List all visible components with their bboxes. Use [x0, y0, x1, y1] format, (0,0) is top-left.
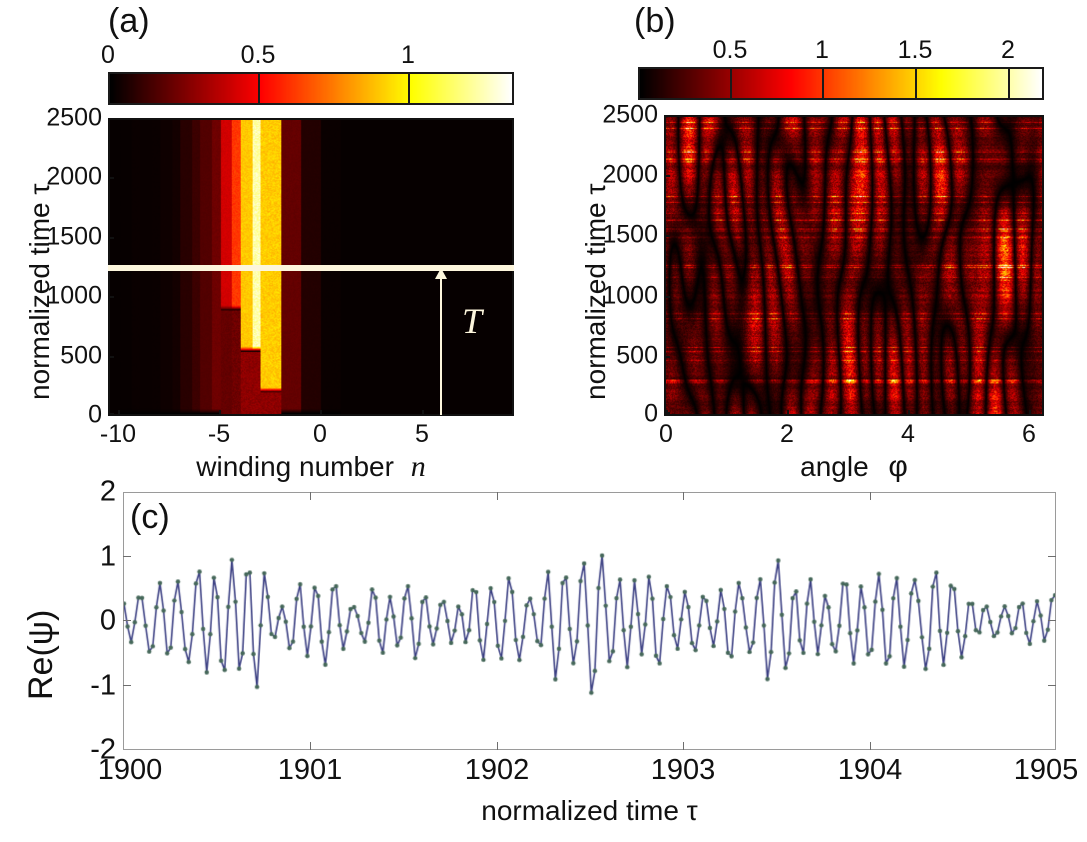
- panel-c-xtickmark-1901: [310, 742, 311, 750]
- panel-a-ytick-0: 0: [28, 401, 102, 430]
- panel-b-colorbar-notch-3: [1008, 67, 1010, 100]
- panel-a-colorbar: [108, 72, 514, 105]
- panel-a-colorbar-tick-0: 0: [101, 41, 115, 70]
- panel-a-period-label: T: [462, 300, 482, 342]
- panel-a-ylabel: normalized time τ: [24, 184, 56, 400]
- panel-c-xtick-1904: 1904: [838, 754, 903, 787]
- panel-c-label: (c): [130, 498, 170, 537]
- panel-c-ylabel: Re(ψ): [22, 610, 61, 700]
- panel-a-ytickmark-1000: [108, 296, 114, 298]
- panel-b-xtickmark-0: [666, 410, 668, 416]
- panel-b-xtickmark-6: [1029, 410, 1031, 416]
- panel-c-ytickmark-1: [123, 556, 131, 557]
- panel-b-xlabel-text: angle: [800, 451, 869, 482]
- panel-a-colorbar-notch-1: [258, 72, 260, 105]
- panel-c-xtickmark-1901-t: [310, 492, 311, 500]
- panel-b-colorbar-tick-2: 1.5: [898, 36, 933, 65]
- panel-a-xlabel: winding number n: [108, 450, 514, 484]
- panel-c-xtickmark-1902: [497, 742, 498, 750]
- panel-c-ytickmark-1-r: [1048, 556, 1056, 557]
- panel-c-ytickmark-0-r: [1048, 620, 1056, 621]
- panel-c-xlabel: normalized time τ: [123, 795, 1056, 827]
- panel-b-label: (b): [634, 2, 676, 41]
- panel-a-colorbar-notch-2: [408, 72, 410, 105]
- panel-b-ytick-0: 0: [584, 400, 658, 429]
- panel-a-xtickmark-5: [422, 410, 424, 416]
- panel-a-xtick-5: 5: [415, 420, 429, 449]
- panel-b-colorbar-tick-0: 0.5: [713, 36, 748, 65]
- panel-b-ytickmark-1000: [664, 296, 670, 298]
- panel-c-ytick--1: -1: [60, 670, 116, 703]
- panel-c-xtick-1901: 1901: [278, 754, 343, 787]
- panel-a-xtick--5: -5: [208, 420, 230, 449]
- panel-c-ytickmark-0: [123, 620, 131, 621]
- panel-c-ytick-2: 2: [60, 476, 116, 509]
- panel-a-ytickmark-2500: [108, 118, 114, 120]
- panel-b-colorbar-tick-1: 1: [815, 36, 829, 65]
- panel-a-xlabel-text: winding number: [196, 451, 394, 482]
- panel-b-ytick-2500: 2500: [584, 101, 658, 130]
- panel-a-xtickmark--5: [219, 410, 221, 416]
- panel-b-colorbar-notch-1: [822, 67, 824, 100]
- panel-c-ytickmark--1: [123, 685, 131, 686]
- panel-c-ytick-1: 1: [60, 541, 116, 574]
- panel-c-xtick-1905: 1905: [1014, 754, 1079, 787]
- panel-b-heatmap: [664, 115, 1044, 416]
- panel-a-xtickmark--10: [118, 410, 120, 416]
- panel-a-ytickmark-0: [108, 413, 114, 415]
- panel-a-ytickmark-1500: [108, 237, 114, 239]
- panel-b-xtickmark-4: [908, 410, 910, 416]
- panel-c-ytickmark--1-r: [1048, 685, 1056, 686]
- panel-a-period-line: [108, 265, 514, 271]
- panel-c-ytick-0: 0: [60, 605, 116, 638]
- figure-canvas: (a) 0 0.5 1 T 2500 2000 1500 1000 500 0 …: [0, 0, 1087, 842]
- panel-b-colorbar: [638, 67, 1044, 100]
- panel-c-xtickmark-1902-t: [497, 492, 498, 500]
- panel-a-label: (a): [108, 2, 150, 41]
- panel-b-ytickmark-2500: [664, 115, 670, 117]
- panel-a-xlabel-var: n: [402, 450, 426, 483]
- panel-c-plot: [123, 492, 1056, 750]
- panel-b-colorbar-tick-3: 2: [1001, 36, 1015, 65]
- panel-b-xtickmark-2: [787, 410, 789, 416]
- panel-b-xtick-0: 0: [659, 420, 673, 449]
- panel-b-ytickmark-1500: [664, 235, 670, 237]
- panel-c-xtickmark-1903-t: [683, 492, 684, 500]
- panel-b-ylabel: normalized time τ: [580, 184, 612, 400]
- panel-b-xlabel: angle φ: [664, 450, 1044, 484]
- panel-b-xtick-2: 2: [780, 420, 794, 449]
- panel-a-colorbar-tick-1: 0.5: [241, 41, 276, 70]
- panel-b-xlabel-var: φ: [876, 450, 907, 483]
- panel-c-xtickmark-1904-t: [870, 492, 871, 500]
- panel-b-xtick-6: 6: [1022, 420, 1036, 449]
- panel-a-ytickmark-2000: [108, 177, 114, 179]
- panel-a-ytick-2500: 2500: [28, 104, 102, 133]
- panel-b-colorbar-notch-2: [915, 67, 917, 100]
- panel-c-xtick-1900: 1900: [98, 754, 163, 787]
- panel-b-xtick-4: 4: [901, 420, 915, 449]
- panel-c-xtick-1903: 1903: [651, 754, 716, 787]
- panel-b-ytickmark-500: [664, 356, 670, 358]
- panel-c-xtickmark-1903: [683, 742, 684, 750]
- panel-a-xtickmark-0: [320, 410, 322, 416]
- panel-a-xtick-0: 0: [313, 420, 327, 449]
- panel-a-ytickmark-500: [108, 356, 114, 358]
- panel-c-xtick-1902: 1902: [465, 754, 530, 787]
- panel-b-ytickmark-2000: [664, 175, 670, 177]
- panel-a-xtick--10: -10: [100, 420, 136, 449]
- panel-a-colorbar-tick-2: 1: [401, 41, 415, 70]
- panel-c-xtickmark-1904: [870, 742, 871, 750]
- panel-b-colorbar-notch-0: [730, 67, 732, 100]
- panel-a-period-arrow: [440, 268, 442, 415]
